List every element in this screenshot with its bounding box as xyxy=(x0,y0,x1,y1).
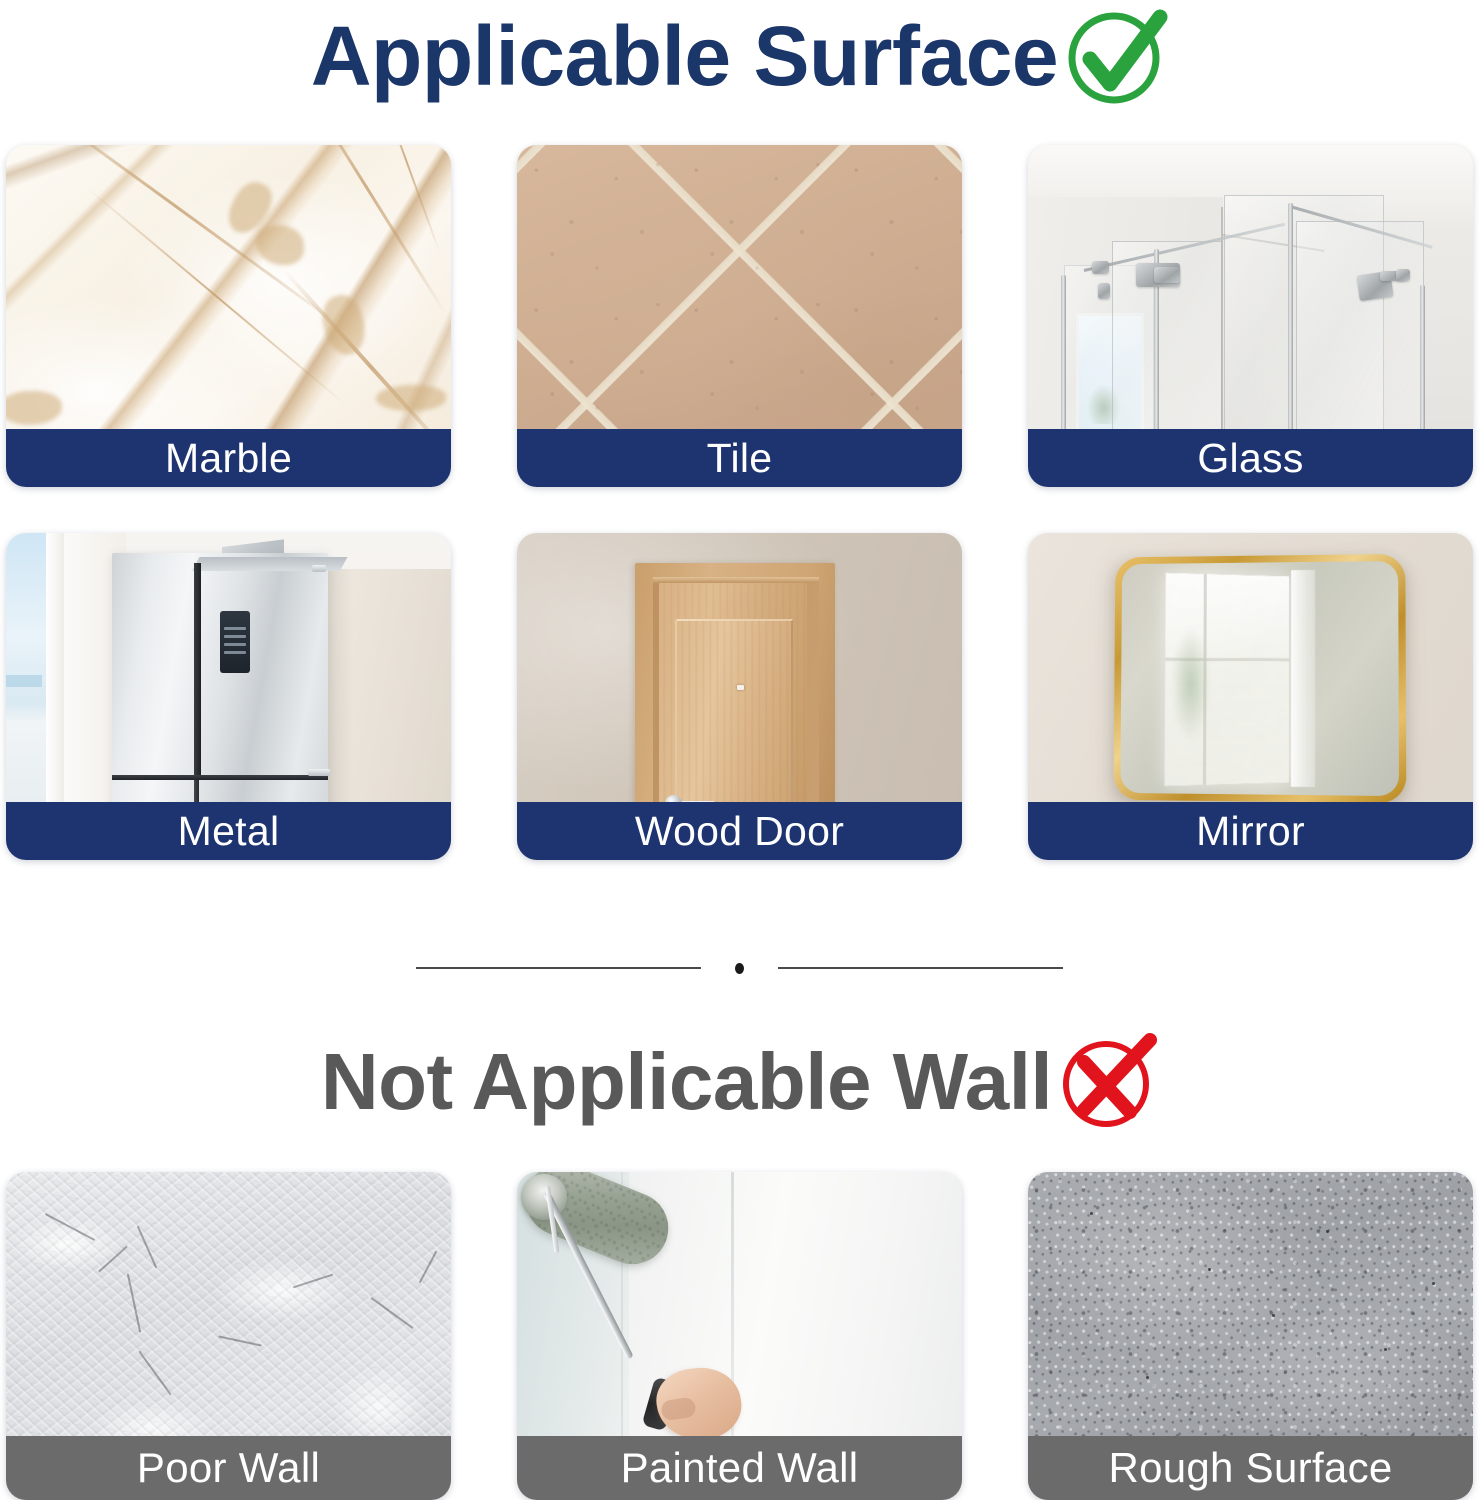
divider-line-left xyxy=(416,967,701,969)
applicable-cards-row-2: Metal Wood Door xyxy=(6,533,1474,860)
surface-card-rough-surface[interactable]: Rough Surface xyxy=(1028,1172,1473,1500)
card-label: Rough Surface xyxy=(1028,1436,1473,1500)
applicable-surface-header: Applicable Surface xyxy=(0,2,1479,110)
divider-line-right xyxy=(778,967,1063,969)
not-applicable-cards-row: Poor Wall Painted Wall xyxy=(6,1172,1474,1500)
surface-card-glass[interactable]: Glass xyxy=(1028,145,1473,487)
surface-card-mirror[interactable]: Mirror xyxy=(1028,533,1473,860)
red-x-circle-icon xyxy=(1058,1032,1158,1132)
card-label: Metal xyxy=(6,802,451,860)
card-label: Mirror xyxy=(1028,802,1473,860)
surface-card-marble[interactable]: Marble xyxy=(6,145,451,487)
surface-card-tile[interactable]: Tile xyxy=(517,145,962,487)
applicable-cards-row-1: Marble Tile Glass xyxy=(6,145,1474,487)
card-label: Poor Wall xyxy=(6,1436,451,1500)
surface-card-metal[interactable]: Metal xyxy=(6,533,451,860)
surface-card-painted-wall[interactable]: Painted Wall xyxy=(517,1172,962,1500)
infographic-page: Applicable Surface Marble Tile xyxy=(0,0,1479,1500)
card-label: Glass xyxy=(1028,429,1473,487)
card-label: Wood Door xyxy=(517,802,962,860)
card-label: Marble xyxy=(6,429,451,487)
card-label: Tile xyxy=(517,429,962,487)
green-check-circle-icon xyxy=(1064,4,1168,108)
not-applicable-wall-title: Not Applicable Wall xyxy=(321,1042,1052,1122)
card-label: Painted Wall xyxy=(517,1436,962,1500)
applicable-surface-title: Applicable Surface xyxy=(311,14,1058,98)
not-applicable-wall-header: Not Applicable Wall xyxy=(0,1030,1479,1134)
divider-dot-icon xyxy=(735,963,744,974)
surface-card-wood-door[interactable]: Wood Door xyxy=(517,533,962,860)
section-divider xyxy=(0,962,1479,974)
surface-card-poor-wall[interactable]: Poor Wall xyxy=(6,1172,451,1500)
